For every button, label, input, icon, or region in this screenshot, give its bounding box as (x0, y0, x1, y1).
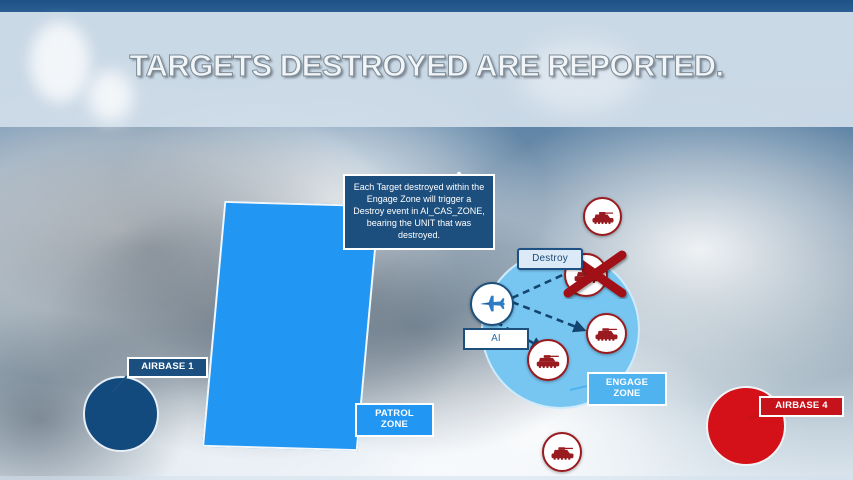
infobox-line: destroyed. (351, 230, 487, 242)
airbase-1-shape[interactable] (83, 376, 159, 452)
tank-glyph (536, 353, 560, 368)
tank-glyph (592, 210, 614, 224)
bottom-accent-strip (0, 476, 853, 480)
tank-icon[interactable] (583, 197, 622, 236)
slide-canvas: TARGETS DESTROYED ARE REPORTED. Each Tar… (0, 0, 853, 480)
patrol-zone-label[interactable]: PATROL ZONE (355, 403, 434, 437)
patrol-zone-label-line2: ZONE (357, 420, 432, 431)
infobox-line: Each Target destroyed within the (351, 182, 487, 194)
tank-icon[interactable] (586, 313, 627, 354)
patrol-zone-label-line1: PATROL (375, 408, 414, 419)
jet-glyph (478, 293, 506, 315)
infobox-line: Engage Zone will trigger a (351, 194, 487, 206)
ai-label[interactable]: AI (463, 328, 529, 350)
explanation-textbox: Each Target destroyed within the Engage … (343, 174, 495, 250)
tank-glyph (551, 445, 574, 460)
engage-zone-label-line1: ENGAGE (606, 377, 648, 388)
infobox-line: Destroy event in AI_CAS_ZONE, (351, 206, 487, 218)
infobox-line: bearing the UNIT that was (351, 218, 487, 230)
tank-icon[interactable] (527, 339, 569, 381)
top-accent-strip (0, 0, 853, 12)
page-title: TARGETS DESTROYED ARE REPORTED. (0, 48, 853, 84)
fighter-jet-icon[interactable] (470, 282, 514, 326)
destroy-label[interactable]: Destroy (517, 248, 583, 270)
airbase-4-label[interactable]: AIRBASE 4 (759, 396, 844, 417)
tank-glyph (595, 326, 618, 341)
airbase-1-label[interactable]: AIRBASE 1 (127, 357, 208, 378)
engage-zone-label[interactable]: ENGAGE ZONE (587, 372, 667, 406)
tank-icon[interactable] (542, 432, 582, 472)
engage-zone-label-line2: ZONE (589, 389, 665, 400)
